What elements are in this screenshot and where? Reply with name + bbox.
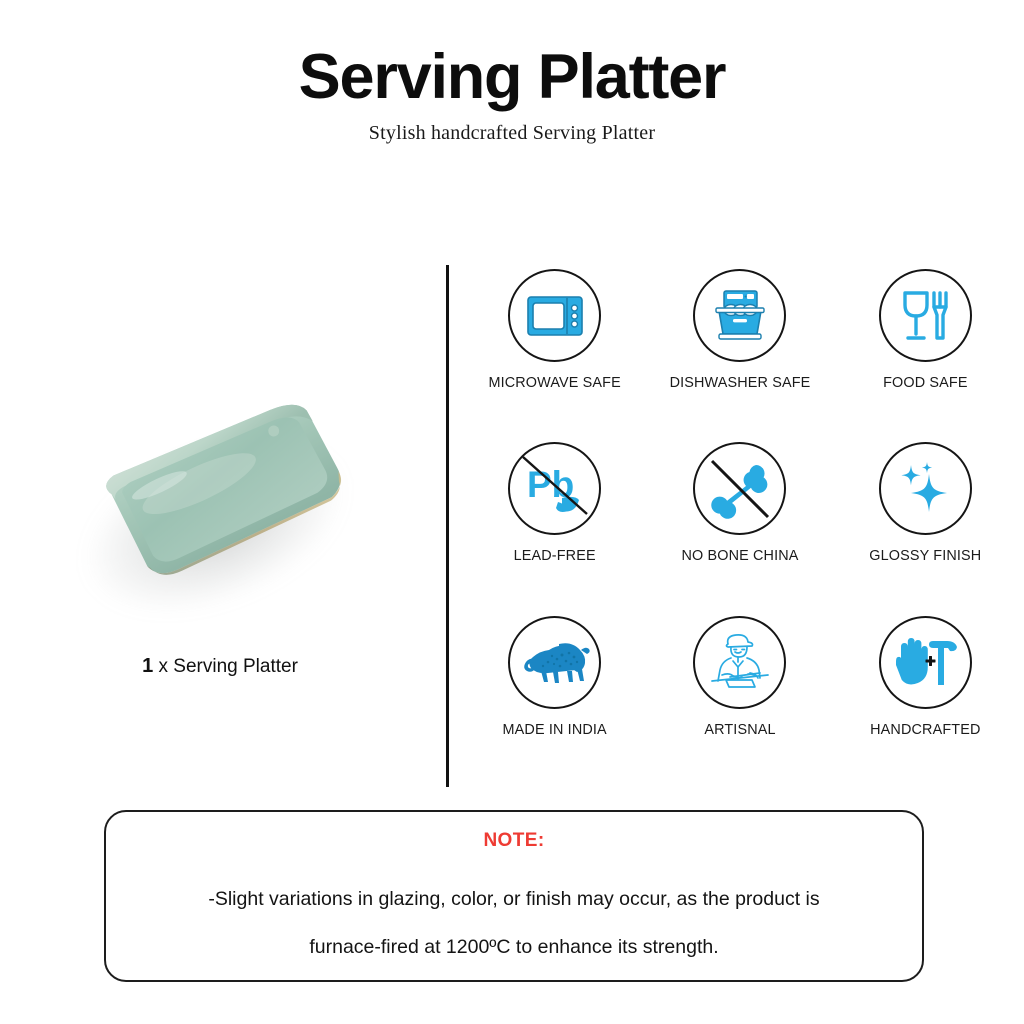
- feature-no-bone-china[interactable]: NO BONE CHINA: [647, 442, 832, 564]
- feature-label: GLOSSY FINISH: [869, 548, 981, 564]
- feature-label: DISHWASHER SAFE: [670, 375, 811, 391]
- feature-label: LEAD-FREE: [514, 548, 596, 564]
- badge-circle: Pb: [508, 442, 601, 535]
- badge-circle: [508, 269, 601, 362]
- artisan-icon: [704, 631, 776, 693]
- feature-label: FOOD SAFE: [883, 375, 968, 391]
- product-image: [60, 395, 380, 625]
- feature-label: HANDCRAFTED: [870, 722, 980, 738]
- feature-label: MADE IN INDIA: [503, 722, 607, 738]
- badge-circle: [693, 269, 786, 362]
- header: Serving Platter Stylish handcrafted Serv…: [0, 0, 1024, 145]
- feature-label: ARTISNAL: [704, 722, 775, 738]
- feature-made-in-india[interactable]: MADE IN INDIA: [462, 616, 647, 738]
- no-bone-icon: [702, 451, 778, 527]
- lion-emblem-icon: [519, 638, 591, 686]
- badge-circle: [879, 442, 972, 535]
- microwave-icon: [526, 292, 584, 340]
- badge-circle: [879, 269, 972, 362]
- note-heading: NOTE:: [106, 830, 922, 852]
- page-title: Serving Platter: [0, 44, 1024, 110]
- feature-dishwasher-safe[interactable]: DISHWASHER SAFE: [647, 269, 832, 391]
- feature-label: NO BONE CHINA: [681, 548, 798, 564]
- page-subtitle: Stylish handcrafted Serving Platter: [0, 122, 1024, 145]
- pb-no-lead-icon: Pb: [518, 452, 592, 526]
- feature-artisnal[interactable]: ARTISNAL: [647, 616, 832, 738]
- product-name: x Serving Platter: [153, 656, 298, 677]
- badge-circle: [693, 442, 786, 535]
- product-column: 1 x Serving Platter: [0, 255, 440, 800]
- note-box: NOTE: -Slight variations in glazing, col…: [104, 810, 924, 982]
- vertical-divider: [446, 265, 449, 787]
- product-caption: 1 x Serving Platter: [0, 655, 440, 678]
- feature-glossy-finish[interactable]: GLOSSY FINISH: [833, 442, 1018, 564]
- feature-label: MICROWAVE SAFE: [488, 375, 620, 391]
- sparkle-icon: [896, 460, 954, 518]
- main-content: 1 x Serving Platter MICROWAVE SAFE: [0, 255, 1024, 800]
- hand-hammer-icon: [892, 635, 958, 689]
- badge-circle: [508, 616, 601, 709]
- feature-lead-free[interactable]: Pb LEAD-FREE: [462, 442, 647, 564]
- feature-microwave-safe[interactable]: MICROWAVE SAFE: [462, 269, 647, 391]
- product-quantity: 1: [142, 655, 153, 677]
- feature-food-safe[interactable]: FOOD SAFE: [833, 269, 1018, 391]
- feature-handcrafted[interactable]: HANDCRAFTED: [833, 616, 1018, 738]
- badge-circle: [879, 616, 972, 709]
- note-line-1: -Slight variations in glazing, color, or…: [106, 890, 922, 910]
- badge-circle: [693, 616, 786, 709]
- note-line-2: furnace-fired at 1200ºC to enhance its s…: [106, 938, 922, 958]
- feature-grid: MICROWAVE SAFE DISHWASHER: [462, 269, 1018, 789]
- glass-fork-icon: [899, 289, 951, 343]
- dishwasher-icon: [711, 289, 769, 343]
